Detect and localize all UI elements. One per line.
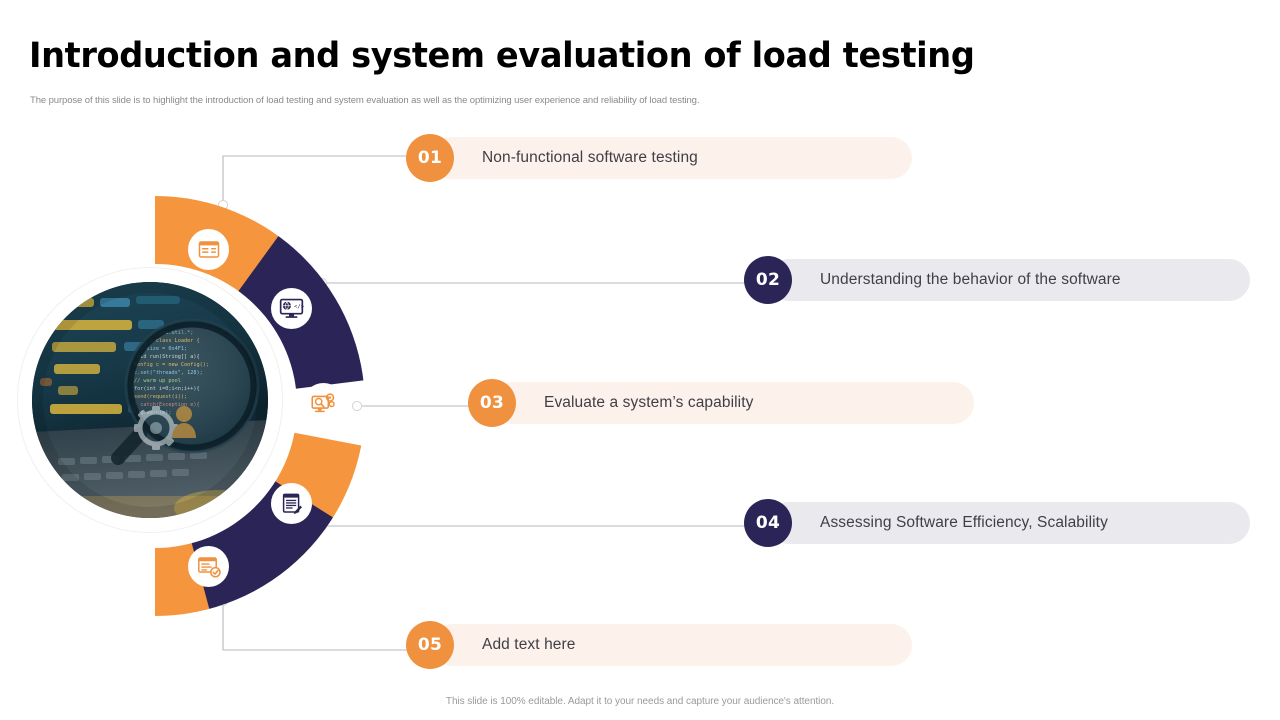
center-photo-code-inspection: import java.util.*; public class Loader …: [32, 282, 268, 518]
item-label-04: Assessing Software Efficiency, Scalabili…: [820, 514, 1108, 532]
monitor-code-globe-icon: </>: [271, 288, 312, 329]
center-photo-ring: import java.util.*; public class Loader …: [18, 268, 282, 532]
slide-canvas: Introduction and system evaluation of lo…: [0, 0, 1280, 720]
browser-window-checklist-icon: [188, 229, 229, 270]
item-label-01: Non-functional software testing: [482, 149, 698, 167]
item-number-01: 01: [406, 134, 454, 182]
monitor-magnifier-gears-icon: [303, 383, 344, 424]
slide-footer-note: This slide is 100% editable. Adapt it to…: [0, 696, 1280, 707]
item-pill-03[interactable]: Evaluate a system’s capability: [492, 382, 974, 424]
item-pill-01[interactable]: Non-functional software testing: [430, 137, 912, 179]
svg-text:</>: </>: [294, 304, 305, 310]
item-label-03: Evaluate a system’s capability: [544, 394, 753, 412]
item-label-02: Understanding the behavior of the softwa…: [820, 271, 1121, 289]
item-number-05: 05: [406, 621, 454, 669]
browser-window-approved-icon: [188, 546, 229, 587]
item-number-04: 04: [744, 499, 792, 547]
item-pill-05[interactable]: Add text here: [430, 624, 912, 666]
item-number-02: 02: [744, 256, 792, 304]
item-number-03: 03: [468, 379, 516, 427]
document-report-pen-icon: [271, 483, 312, 524]
item-pill-04[interactable]: Assessing Software Efficiency, Scalabili…: [768, 502, 1250, 544]
item-pill-02[interactable]: Understanding the behavior of the softwa…: [768, 259, 1250, 301]
item-label-05: Add text here: [482, 636, 576, 654]
